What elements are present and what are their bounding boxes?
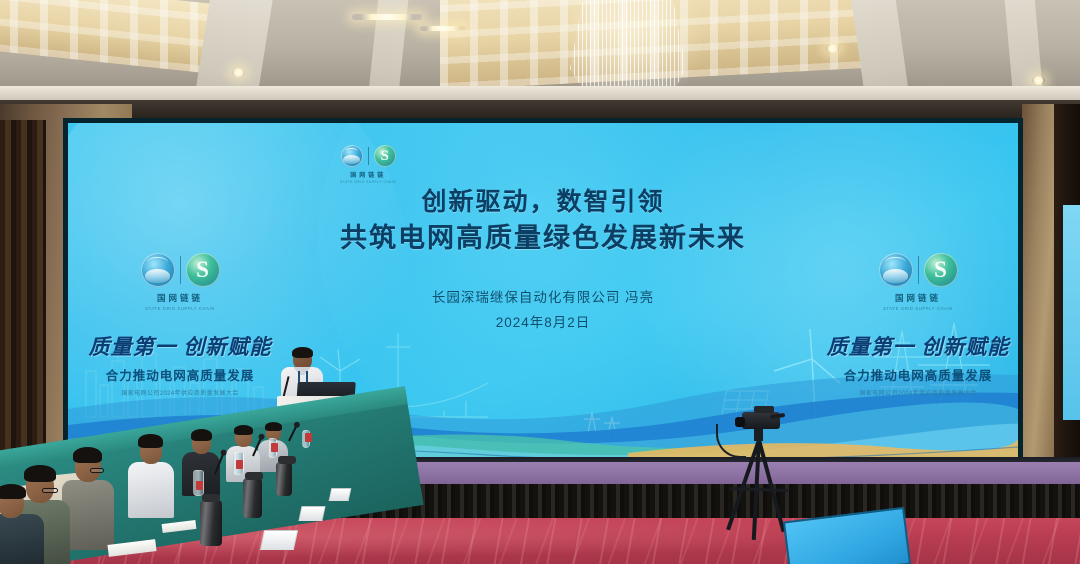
- name-card: [260, 530, 298, 550]
- logo-text-cn: 国网链链: [820, 292, 1016, 304]
- secondary-display-panel: [1063, 205, 1080, 420]
- tripod-head: [754, 428, 763, 441]
- person-body: [0, 514, 44, 564]
- audience-member: [0, 488, 44, 564]
- supply-chain-s-icon: [186, 253, 220, 287]
- banner-logo-right: 国网链链 STATE GRID SUPPLY CHAIN: [820, 253, 1016, 311]
- person-glasses: [90, 468, 104, 473]
- person-hair: [265, 422, 282, 431]
- banner-slogan-part-2: 创新赋能: [183, 336, 271, 359]
- conference-hall-screenshot: 国网链链 STATE GRID SUPPLY CHAIN 创新驱动，数智引领 共…: [0, 0, 1080, 564]
- led-wall-frame: 国网链链 STATE GRID SUPPLY CHAIN 创新驱动，数智引领 共…: [63, 118, 1023, 468]
- person-hair: [24, 465, 56, 482]
- logo-divider: [918, 256, 919, 284]
- water-bottle: [233, 452, 244, 475]
- logo-text-cn: 国网链链: [340, 170, 396, 179]
- thermos-lid: [278, 456, 296, 464]
- water-bottle: [193, 470, 204, 496]
- thermos-flask: [276, 462, 292, 496]
- banner-slogan-part-2: 创新赋能: [921, 336, 1009, 359]
- ceiling-strip-light: [352, 14, 422, 20]
- thermos-flask: [200, 500, 222, 546]
- banner-logo-left: 国网链链 STATE GRID SUPPLY CHAIN: [82, 253, 278, 311]
- crystal-chandelier: [570, 0, 686, 98]
- logo-text-en: STATE GRID SUPPLY CHAIN: [820, 306, 1016, 311]
- downlight: [826, 44, 839, 53]
- person-hair: [138, 434, 163, 448]
- side-banner-left: 国网链链 STATE GRID SUPPLY CHAIN 质量第一 创新赋能 合…: [82, 253, 278, 397]
- ceiling-strip-light: [420, 26, 466, 31]
- audience-member: [128, 438, 174, 516]
- downlight: [232, 68, 245, 77]
- speaker-hair: [292, 347, 313, 358]
- led-wall-screen: 国网链链 STATE GRID SUPPLY CHAIN 创新驱动，数智引领 共…: [68, 123, 1018, 463]
- name-card: [329, 488, 352, 501]
- logo-text-en: STATE GRID SUPPLY CHAIN: [82, 306, 278, 311]
- logo-divider: [180, 256, 181, 284]
- ceiling-coffer-left: [0, 0, 220, 75]
- banner-slogan: 质量第一 创新赋能: [820, 331, 1016, 361]
- banner-slogan: 质量第一 创新赋能: [82, 331, 278, 361]
- person-glasses: [42, 488, 58, 493]
- banner-fine-print: 国家电网公司2024年供应商质量发展大会: [820, 388, 1016, 397]
- side-banner-right: 国网链链 STATE GRID SUPPLY CHAIN 质量第一 创新赋能 合…: [820, 253, 1016, 397]
- logo-text-cn: 国网链链: [82, 292, 278, 304]
- camera-lens: [735, 417, 745, 427]
- thermos-lid: [245, 472, 263, 480]
- marble-pillar-right: [1022, 104, 1056, 504]
- headline-line-2: 共筑电网高质量绿色发展新未来: [68, 219, 1018, 257]
- state-grid-globe-icon: [141, 253, 175, 287]
- person-hair: [73, 447, 102, 463]
- person-body: [128, 462, 174, 518]
- supply-chain-s-icon: [374, 145, 396, 167]
- person-hair: [191, 429, 212, 441]
- logo-divider: [368, 147, 369, 165]
- center-logo-lockup: 国网链链 STATE GRID SUPPLY CHAIN: [340, 145, 396, 184]
- supply-chain-s-icon: [924, 253, 958, 287]
- banner-slogan-part-1: 质量第一: [89, 336, 177, 359]
- headline-line-1: 创新驱动，数智引领: [68, 185, 1018, 219]
- state-grid-globe-icon: [341, 145, 363, 167]
- banner-fine-print: 国家电网公司2024年供应商质量发展大会: [82, 388, 278, 397]
- water-bottle: [302, 430, 310, 448]
- thermos-flask: [243, 478, 262, 518]
- banner-subtitle: 合力推动电网高质量发展: [820, 365, 1016, 384]
- presentation-headline: 创新驱动，数智引领 共筑电网高质量绿色发展新未来: [68, 185, 1018, 257]
- banner-slogan-part-1: 质量第一: [827, 336, 915, 359]
- water-bottle: [268, 438, 277, 458]
- marble-veins: [1022, 104, 1056, 504]
- banner-subtitle: 合力推动电网高质量发展: [82, 365, 278, 384]
- logo-text-en: STATE GRID SUPPLY CHAIN: [340, 180, 396, 184]
- name-card: [298, 506, 325, 521]
- thermos-lid: [202, 494, 220, 502]
- person-hair: [234, 425, 253, 435]
- lattice-pattern: [0, 0, 220, 75]
- person-hair: [0, 484, 26, 499]
- downlight: [1032, 76, 1045, 85]
- state-grid-globe-icon: [879, 253, 913, 287]
- camera-viewfinder: [754, 406, 774, 413]
